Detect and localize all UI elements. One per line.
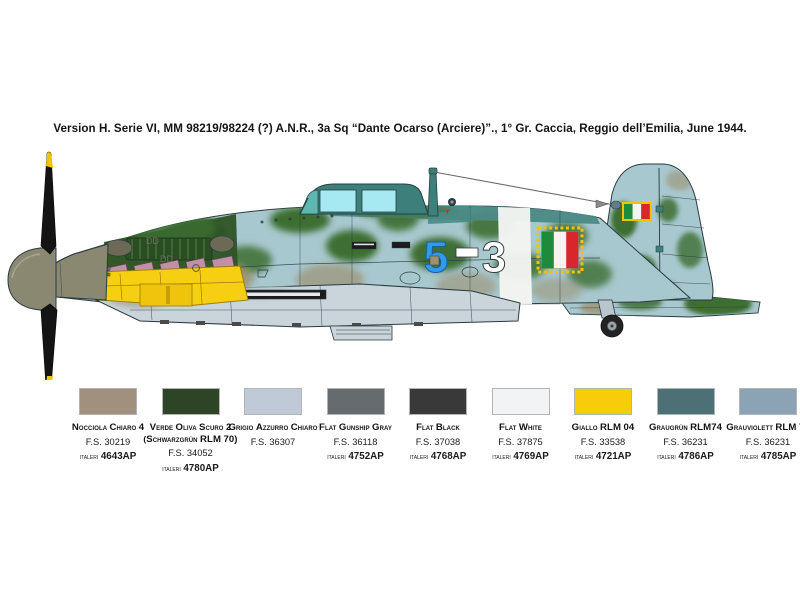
canopy-glass-front [320,190,356,212]
swatch-name: Grauviolett RLM 75 [716,422,800,434]
svg-text:DD: DD [160,254,173,264]
colour-swatch [574,388,632,415]
antenna-wire [434,172,620,206]
code-numeral-3: 3 [482,233,506,282]
swatch-italeri-code: Italeri 4785AP [716,451,800,463]
propeller-blade-lower [41,304,57,380]
aircraft-svg: 5 3 [0,150,800,380]
colour-swatch [739,388,797,415]
radiator-scoop [330,326,392,340]
colour-swatch [327,388,385,415]
swatch-italeri-code: Italeri 4780AP [139,463,243,475]
canopy-glass-rear [362,190,396,212]
colour-swatch [244,388,302,415]
colour-swatch [162,388,220,415]
colour-swatch [657,388,715,415]
colour-swatch [79,388,137,415]
svg-text:DD: DD [146,236,159,246]
aircraft-illustration: 5 3 [0,150,800,380]
propeller-blade-upper [41,152,56,254]
tail-flag-icon [622,202,652,221]
code-dash [456,248,478,257]
profile-caption: Version H. Serie VI, MM 98219/98224 (?) … [0,122,800,135]
fuselage-flag-icon [538,228,582,272]
colour-chart: Nocciola Chiaro 4F.S. 30219Italeri 4643A… [0,388,800,498]
propeller-assembly [8,152,57,380]
swatch-fs-code: F.S. 36231 [716,437,800,449]
antenna-mast [428,172,438,216]
propeller-tip-upper [46,152,53,168]
colour-swatch [409,388,467,415]
profile-sheet: Version H. Serie VI, MM 98219/98224 (?) … [0,0,800,600]
spinner [8,248,56,310]
swatch-fs-code: F.S. 34052 [139,448,243,460]
swatch-column: Grauviolett RLM 75F.S. 36231Italeri 4785… [716,388,800,464]
colour-swatch [492,388,550,415]
engine-cutaway [40,210,248,306]
propeller-tip-lower [46,376,53,380]
